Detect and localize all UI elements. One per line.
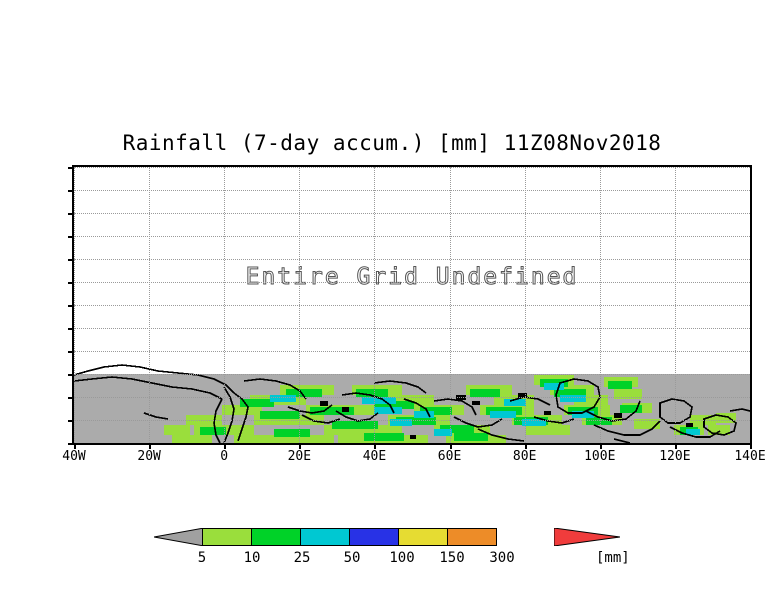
colorbar-low-extend xyxy=(154,528,204,546)
gridline-horizontal xyxy=(74,397,750,398)
gridline-horizontal xyxy=(74,236,750,237)
colorbar-band xyxy=(202,528,252,546)
colorbar-band xyxy=(349,528,399,546)
undefined-grid-annotation: Entire Grid Undefined xyxy=(74,264,750,290)
gridline-horizontal xyxy=(74,282,750,283)
y-tick-mark xyxy=(68,236,74,238)
x-tick-label: 60E xyxy=(438,449,461,464)
gridline-horizontal xyxy=(74,351,750,352)
gridline-horizontal xyxy=(74,259,750,260)
y-tick-mark xyxy=(68,397,74,399)
y-tick-mark xyxy=(68,213,74,215)
y-tick-mark xyxy=(68,374,74,376)
x-tick-label: 20W xyxy=(137,449,160,464)
y-tick-mark xyxy=(68,259,74,261)
y-tick-mark xyxy=(68,351,74,353)
gridline-horizontal xyxy=(74,190,750,191)
gridline-horizontal xyxy=(74,420,750,421)
y-tick-mark xyxy=(68,420,74,422)
colorbar-tick-label: 25 xyxy=(294,550,311,566)
colorbar-tick-label: 100 xyxy=(389,550,414,566)
colorbar-bands xyxy=(202,528,497,546)
colorbar-band xyxy=(398,528,448,546)
colorbar-high-extend xyxy=(554,528,620,546)
x-tick-label: 0 xyxy=(220,449,228,464)
y-tick-mark xyxy=(68,167,74,169)
map-plot-area: Entire Grid Undefined xyxy=(72,165,752,445)
x-tick-label: 120E xyxy=(659,449,690,464)
colorbar-band xyxy=(300,528,350,546)
y-tick-mark xyxy=(68,305,74,307)
y-tick-mark xyxy=(68,190,74,192)
colorbar-unit-label: [mm] xyxy=(596,550,630,566)
gridline-horizontal xyxy=(74,213,750,214)
chart-title: Rainfall (7-day accum.) [mm] 11Z08Nov201… xyxy=(0,131,784,155)
x-tick-label: 20E xyxy=(288,449,311,464)
x-tick-label: 40E xyxy=(363,449,386,464)
colorbar-tick-label: 50 xyxy=(344,550,361,566)
x-tick-label: 40W xyxy=(62,449,85,464)
x-tick-label: 100E xyxy=(584,449,615,464)
x-tick-label: 140E xyxy=(734,449,765,464)
colorbar-band xyxy=(251,528,301,546)
colorbar: 5102550100150300 [mm] xyxy=(150,524,670,570)
colorbar-tick-label: 10 xyxy=(244,550,261,566)
map-canvas: Entire Grid Undefined xyxy=(74,167,750,443)
colorbar-tick-label: 150 xyxy=(439,550,464,566)
y-tick-mark xyxy=(68,282,74,284)
colorbar-tick-label: 5 xyxy=(198,550,206,566)
x-tick-label: 80E xyxy=(513,449,536,464)
gridline-horizontal xyxy=(74,374,750,375)
gridline-horizontal xyxy=(74,328,750,329)
y-tick-mark xyxy=(68,328,74,330)
gridline-horizontal xyxy=(74,305,750,306)
colorbar-band xyxy=(447,528,497,546)
gridline-horizontal xyxy=(74,167,750,168)
colorbar-tick-label: 300 xyxy=(489,550,514,566)
